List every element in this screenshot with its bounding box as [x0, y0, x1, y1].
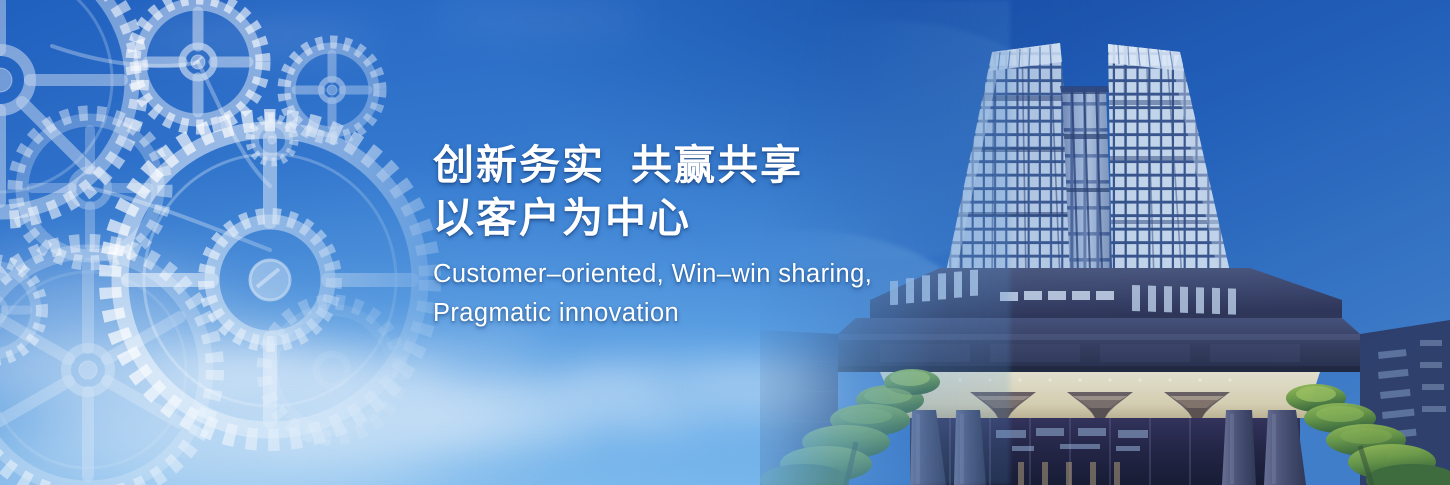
headline-cn-line1: 创新务实共赢共享: [433, 139, 953, 192]
headline-cn-1b: 共赢共享: [631, 142, 803, 188]
subhead-en-line2: Pragmatic innovation: [433, 294, 953, 333]
headline-cn-1a: 创新务实: [433, 142, 605, 188]
headline-cn-line2: 以客户为中心: [433, 192, 953, 245]
banner-copy: 创新务实共赢共享 以客户为中心 Customer–oriented, Win–w…: [433, 139, 953, 333]
subhead-en-line1: Customer–oriented, Win–win sharing,: [433, 255, 953, 294]
corporate-banner: 创新务实共赢共享 以客户为中心 Customer–oriented, Win–w…: [0, 0, 1450, 485]
gear-cluster: [0, 0, 500, 485]
